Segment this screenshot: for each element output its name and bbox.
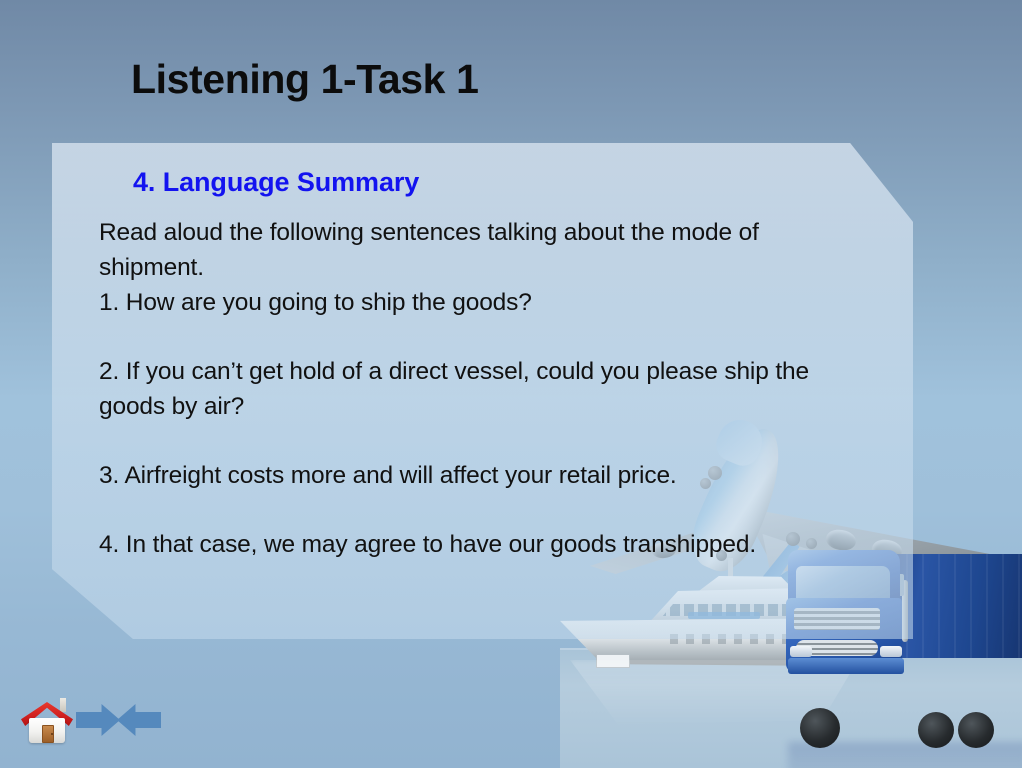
- page-title: Listening 1-Task 1: [131, 56, 478, 103]
- sentence-item-1: 1. How are you going to ship the goods?: [99, 285, 903, 320]
- truck-bumper: [788, 658, 904, 674]
- content-panel: 4. Language Summary Read aloud the follo…: [52, 143, 913, 639]
- truck-headlight: [790, 646, 812, 657]
- section-heading: 4. Language Summary: [133, 167, 903, 198]
- sentence-item-4: 4. In that case, we may agree to have ou…: [99, 527, 903, 562]
- truck-headlight: [880, 646, 902, 657]
- home-icon[interactable]: [20, 696, 74, 744]
- sentence-item-3: 3. Airfreight costs more and will affect…: [99, 458, 903, 493]
- slide-navigation: [20, 694, 170, 746]
- sentence-item-2: 2. If you can’t get hold of a direct ves…: [99, 354, 851, 424]
- house-chimney: [60, 698, 66, 712]
- navigation-arrows: [76, 702, 164, 738]
- truck-wheel: [958, 712, 994, 748]
- instruction-text: Read aloud the following sentences talki…: [99, 215, 844, 285]
- arrow-right-icon[interactable]: [76, 704, 120, 736]
- content-panel-body: 4. Language Summary Read aloud the follo…: [52, 143, 913, 639]
- truck-wheel: [918, 712, 954, 748]
- house-door-knob: [51, 733, 53, 735]
- arrow-left-icon[interactable]: [117, 704, 161, 736]
- presentation-slide: Listening 1-Task 1 4. Language Summary R…: [0, 0, 1022, 768]
- truck-front-wheel: [800, 708, 840, 748]
